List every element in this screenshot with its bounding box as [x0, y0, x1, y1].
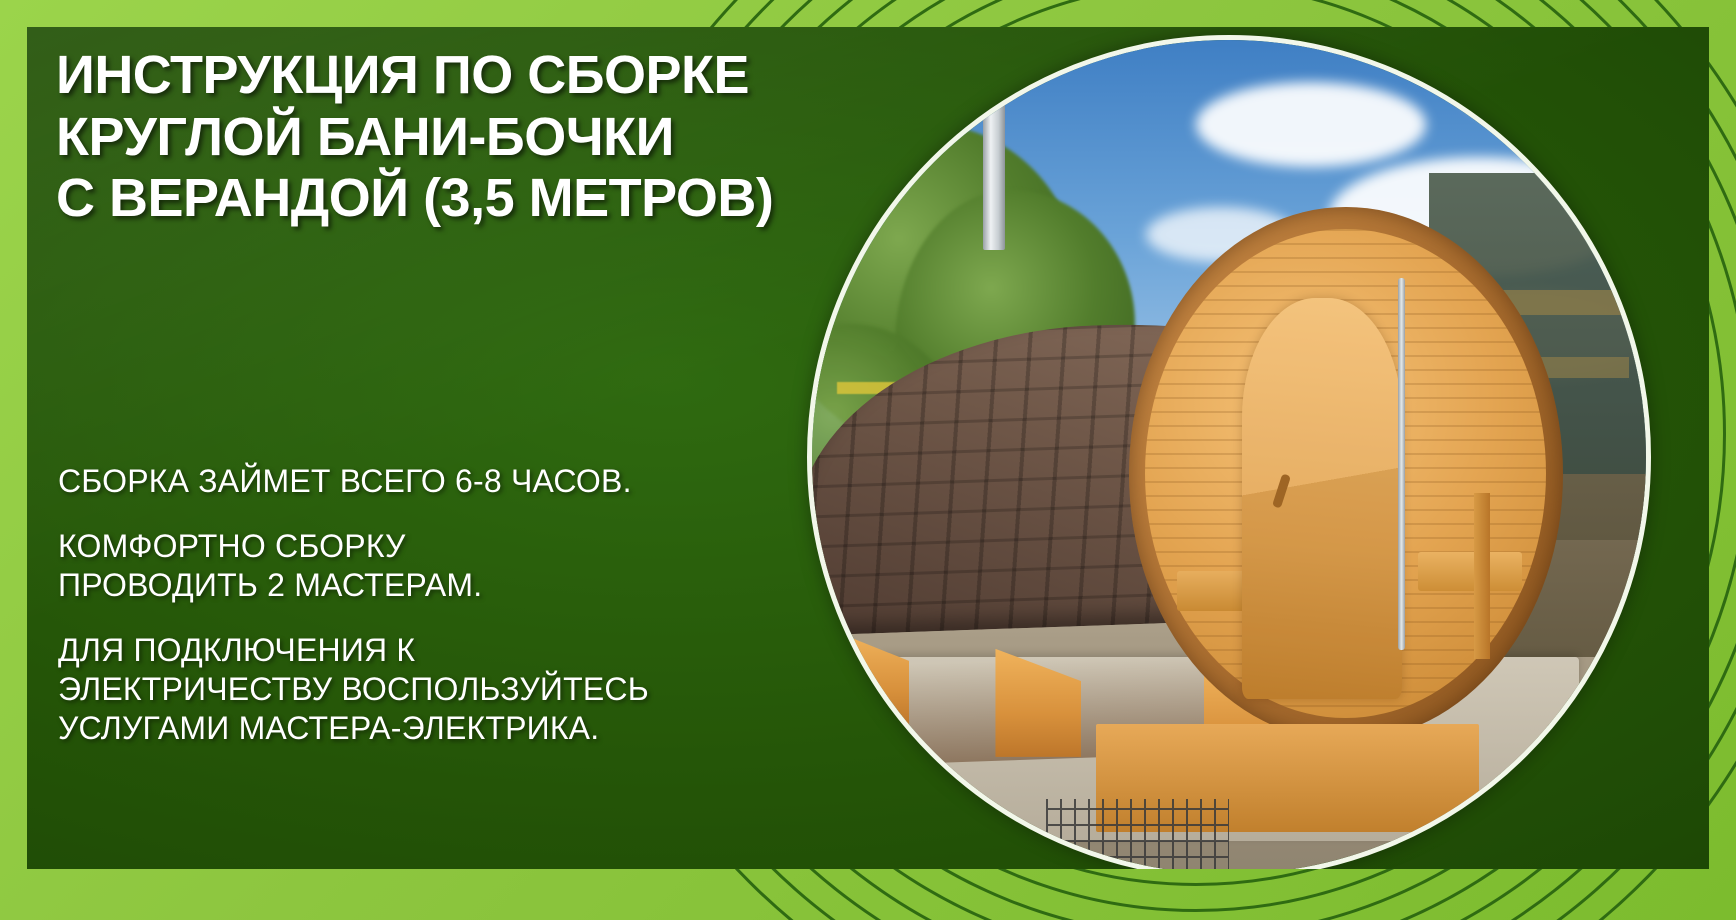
body-paragraph-2: КОМФОРТНО СБОРКУ ПРОВОДИТЬ 2 МАСТЕРАМ.	[58, 527, 798, 605]
cloud	[1463, 57, 1646, 127]
text-column: ИНСТРУКЦИЯ ПО СБОРКЕ КРУГЛОЙ БАНИ-БОЧКИ …	[56, 27, 816, 869]
body-paragraph-1: СБОРКА ЗАЙМЕТ ВСЕГО 6-8 ЧАСОВ.	[58, 462, 798, 501]
poster-title: ИНСТРУКЦИЯ ПО СБОРКЕ КРУГЛОЙ БАНИ-БОЧКИ …	[56, 45, 846, 230]
body-paragraph-3: ДЛЯ ПОДКЛЮЧЕНИЯ К ЭЛЕКТРИЧЕСТВУ ВОСПОЛЬЗ…	[58, 631, 798, 748]
mini-fence	[1046, 799, 1229, 869]
door-handle-icon	[1272, 473, 1291, 508]
poster-root: ИНСТРУКЦИЯ ПО СБОРКЕ КРУГЛОЙ БАНИ-БОЧКИ …	[0, 0, 1736, 920]
cloud	[1196, 82, 1426, 167]
door-rail	[1398, 278, 1405, 650]
content-panel: ИНСТРУКЦИЯ ПО СБОРКЕ КРУГЛОЙ БАНИ-БОЧКИ …	[27, 27, 1709, 869]
sauna-door	[1242, 298, 1402, 699]
poster-body: СБОРКА ЗАЙМЕТ ВСЕГО 6-8 ЧАСОВ. КОМФОРТНО…	[58, 462, 798, 748]
bench-right	[1418, 552, 1522, 591]
barrel-sauna-photo	[807, 35, 1651, 869]
veranda-end-ring	[1129, 207, 1563, 741]
veranda-end-inner	[1145, 229, 1546, 718]
corner-post	[1474, 493, 1490, 659]
photo-scene	[812, 40, 1646, 869]
chimney-pipe	[983, 90, 1005, 250]
